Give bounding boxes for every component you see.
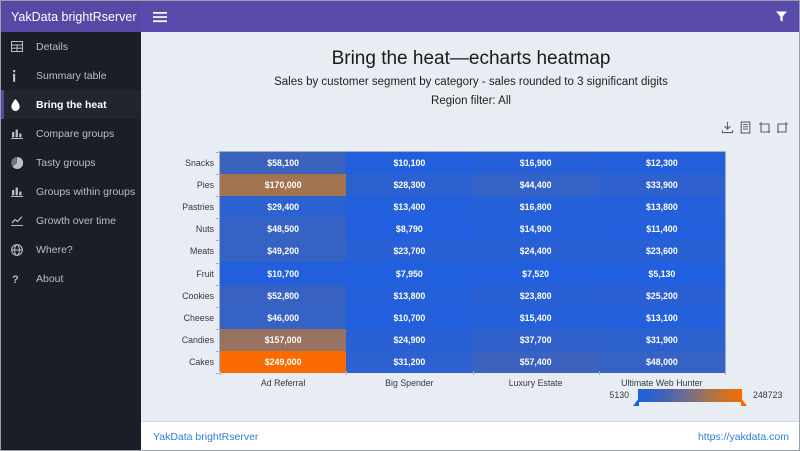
heatmap-row: $48,500$8,790$14,900$11,400 [220,218,725,240]
sidebar-item-bring-the-heat[interactable]: Bring the heat [1,90,141,119]
y-axis-label: Fruit [154,263,214,285]
fire-drop-icon [11,98,29,112]
info-icon [11,69,29,83]
heatmap-cell[interactable]: $11,400 [599,218,725,240]
y-axis-label: Candies [154,329,214,351]
heatmap-cell[interactable]: $48,500 [220,218,346,240]
heatmap-row: $249,000$31,200$57,400$48,000 [220,351,725,373]
sidebar-item-label: Growth over time [36,215,116,227]
app-brand: YakData brightRserver [1,1,141,32]
heatmap-cell[interactable]: $33,900 [599,174,725,196]
app-header: YakData brightRserver [1,1,800,32]
heatmap-cell[interactable]: $10,700 [346,307,472,329]
heatmap-row: $58,100$10,100$16,900$12,300 [220,152,725,174]
y-axis-tick [216,174,220,175]
sidebar-item-label: Tasty groups [36,157,96,169]
y-axis-label: Cookies [154,285,214,307]
sidebar-item-compare-groups[interactable]: Compare groups [1,119,141,148]
heatmap-cell[interactable]: $7,950 [346,262,472,284]
heatmap-cell[interactable]: $28,300 [346,174,472,196]
heatmap-cell[interactable]: $57,400 [473,351,599,373]
filter-funnel-icon[interactable] [761,1,800,32]
heatmap-cell[interactable]: $37,700 [473,329,599,351]
sidebar-item-growth-over-time[interactable]: Growth over time [1,206,141,235]
sidebar-item-where[interactable]: Where? [1,235,141,264]
heatmap-visual-map-legend[interactable]: 5130 248723 [591,384,786,406]
heatmap-cell[interactable]: $23,600 [599,240,725,262]
y-axis-tick [216,263,220,264]
heatmap-cell[interactable]: $13,800 [599,196,725,218]
y-axis-tick [216,307,220,308]
heatmap-grid: Snacks$58,100$10,100$16,900$12,300Pies$1… [219,151,726,372]
sidebar-item-label: About [36,273,63,285]
y-axis-label: Cheese [154,307,214,329]
sidebar-item-label: Where? [36,244,73,256]
heatmap-cell[interactable]: $31,200 [346,351,472,373]
heatmap-row: $157,000$24,900$37,700$31,900 [220,329,725,351]
heatmap-cell[interactable]: $10,100 [346,152,472,174]
heatmap-cell[interactable]: $48,000 [599,351,725,373]
heatmap-cell[interactable]: $5,130 [599,262,725,284]
heatmap-cell[interactable]: $52,800 [220,285,346,307]
heatmap-cell[interactable]: $24,400 [473,240,599,262]
heatmap-cell[interactable]: $44,400 [473,174,599,196]
y-axis-label: Nuts [154,218,214,240]
heatmap-cell[interactable]: $23,700 [346,240,472,262]
sidebar-item-label: Groups within groups [36,186,135,198]
y-axis-label: Cakes [154,351,214,373]
pie-chart-icon [11,156,29,170]
heatmap-cell[interactable]: $58,100 [220,152,346,174]
legend-handle-high-icon[interactable] [741,398,747,406]
heatmap-row: $46,000$10,700$15,400$13,100 [220,307,725,329]
sidebar-item-label: Details [36,41,68,53]
heatmap-cell[interactable]: $31,900 [599,329,725,351]
heatmap-cell[interactable]: $25,200 [599,285,725,307]
sidebar-item-summary-table[interactable]: Summary table [1,61,141,90]
heatmap-cell[interactable]: $46,000 [220,307,346,329]
x-axis-tick [220,371,221,375]
footer-website-link[interactable]: https://yakdata.com [698,431,789,443]
bar-chart-icon [11,127,29,141]
heatmap-row: $170,000$28,300$44,400$33,900 [220,174,725,196]
sidebar-item-groups-within-groups[interactable]: Groups within groups [1,177,141,206]
x-axis-tick [725,371,726,375]
heatmap-cell[interactable]: $170,000 [220,174,346,196]
heatmap-cell[interactable]: $249,000 [220,351,346,373]
y-axis-tick [216,196,220,197]
line-chart-icon [11,214,29,228]
y-axis-label: Snacks [154,152,214,174]
heatmap-cell[interactable]: $13,400 [346,196,472,218]
heatmap-cell[interactable]: $16,800 [473,196,599,218]
x-axis-label: Big Spender [346,378,472,388]
sidebar-item-tasty-groups[interactable]: Tasty groups [1,148,141,177]
heatmap-cell[interactable]: $15,400 [473,307,599,329]
sidebar-item-label: Summary table [36,70,107,82]
heatmap-cell[interactable]: $13,800 [346,285,472,307]
bar-chart-icon [11,185,29,199]
table-icon [11,40,29,54]
heatmap-cell[interactable]: $7,520 [473,262,599,284]
x-axis-tick [473,371,474,375]
y-axis-label: Pastries [154,196,214,218]
globe-icon [11,243,29,257]
heatmap-cell[interactable]: $12,300 [599,152,725,174]
heatmap-cell[interactable]: $24,900 [346,329,472,351]
heatmap-cell[interactable]: $29,400 [220,196,346,218]
legend-min-label: 5130 [591,390,629,400]
heatmap-row: $49,200$23,700$24,400$23,600 [220,240,725,262]
y-axis-tick [216,152,220,153]
y-axis-tick [216,285,220,286]
heatmap-row: $52,800$13,800$23,800$25,200 [220,285,725,307]
footer-sidebar-pad [1,421,141,451]
x-axis-label: Luxury Estate [473,378,599,388]
sidebar-item-label: Compare groups [36,128,114,140]
heatmap-cell[interactable]: $49,200 [220,240,346,262]
heatmap-cell[interactable]: $23,800 [473,285,599,307]
heatmap-cell[interactable]: $13,100 [599,307,725,329]
heatmap-row: $29,400$13,400$16,800$13,800 [220,196,725,218]
app-footer: YakData brightRserver https://yakdata.co… [141,421,800,451]
heatmap-cell[interactable]: $14,900 [473,218,599,240]
heatmap-plot: Snacks$58,100$10,100$16,900$12,300Pies$1… [141,32,800,421]
heatmap-cell[interactable]: $16,900 [473,152,599,174]
heatmap-cell[interactable]: $8,790 [346,218,472,240]
y-axis-tick [216,329,220,330]
heatmap-cell[interactable]: $157,000 [220,329,346,351]
footer-brand-link[interactable]: YakData brightRserver [153,431,258,443]
question-mark-icon: ? [11,272,29,286]
sidebar-item-about[interactable]: ? About [1,264,141,293]
header-spacer [179,1,761,32]
sidebar-item-label: Bring the heat [36,99,107,111]
legend-max-label: 248723 [753,390,782,400]
main-content: Bring the heat—echarts heatmap Sales by … [141,32,800,421]
y-axis-tick [216,240,220,241]
x-axis-tick [346,371,347,375]
sidebar-item-details[interactable]: Details [1,32,141,61]
y-axis-tick [216,373,220,374]
svg-text:?: ? [12,274,19,285]
heatmap-row: $10,700$7,950$7,520$5,130 [220,262,725,284]
x-axis-tick [599,371,600,375]
y-axis-tick [216,218,220,219]
x-axis-label: Ad Referral [220,378,346,388]
legend-gradient-bar[interactable] [638,389,742,402]
hamburger-icon[interactable] [141,1,179,32]
heatmap-cell[interactable]: $10,700 [220,262,346,284]
app-window: YakData brightRserver Details [0,0,800,451]
sidebar-nav: Details Summary table Bring the heat Com… [1,32,141,421]
y-axis-label: Meats [154,240,214,262]
y-axis-label: Pies [154,174,214,196]
y-axis-tick [216,351,220,352]
